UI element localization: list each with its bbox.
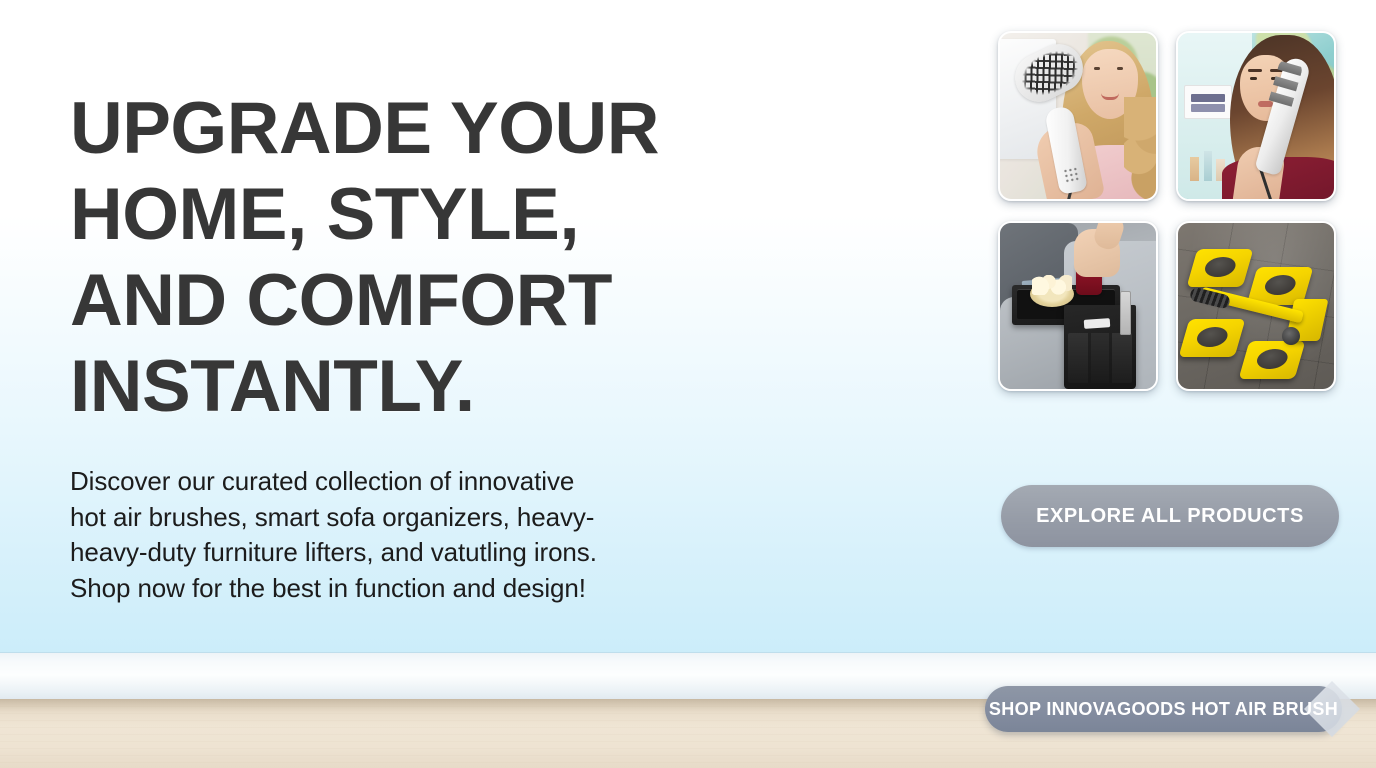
furniture-lifter-scene [1178, 223, 1334, 389]
eye-right-shape [1117, 67, 1123, 70]
lifter-wheel-shape [1282, 327, 1300, 345]
popcorn-bowl-shape [1030, 281, 1074, 307]
hero-copy: UPGRADE YOUR HOME, STYLE, AND COMFORT IN… [70, 86, 770, 606]
hot-air-brush-scene [1000, 33, 1156, 199]
eyebrow-left-shape [1248, 69, 1262, 72]
shop-hot-air-brush-banner[interactable]: SHOP INNOVAGOODS HOT AIR BRUSH [985, 686, 1342, 732]
page-title: UPGRADE YOUR HOME, STYLE, AND COMFORT IN… [70, 86, 770, 430]
product-image-sofa-armrest-organizer[interactable] [998, 221, 1158, 391]
remote-tall-shape [1120, 291, 1131, 335]
explore-all-products-button[interactable]: EXPLORE ALL PRODUCTS [1001, 485, 1339, 547]
eye-left-shape [1094, 67, 1100, 70]
eye-left-shape [1250, 77, 1257, 80]
product-image-furniture-lifter-set[interactable] [1176, 221, 1336, 391]
hero-banner: UPGRADE YOUR HOME, STYLE, AND COMFORT IN… [0, 0, 1376, 768]
lifter-pad-shape [1187, 249, 1254, 287]
product-image-grid [998, 31, 1342, 392]
hero-description: Discover our curated collection of innov… [70, 464, 770, 606]
shelf-shape [1184, 85, 1232, 119]
lifter-pad-shape [1239, 341, 1306, 379]
lifter-pad-shape [1179, 319, 1246, 357]
shop-banner-label: SHOP INNOVAGOODS HOT AIR BRUSH [989, 699, 1338, 720]
waver-iron-scene [1178, 33, 1334, 199]
product-image-hot-air-brush-blonde[interactable] [998, 31, 1158, 201]
curls-shape [1124, 97, 1156, 199]
remote-white-shape [1084, 318, 1111, 329]
product-image-waver-iron-brunette[interactable] [1176, 31, 1336, 201]
sofa-organizer-scene [1000, 223, 1156, 389]
